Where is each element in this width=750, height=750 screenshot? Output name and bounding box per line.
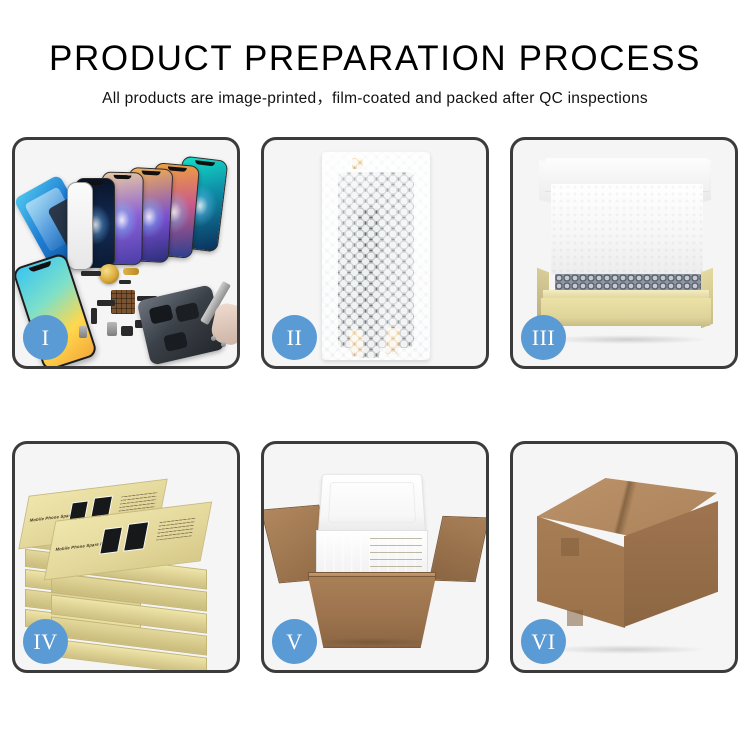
- step-badge-1: I: [23, 315, 68, 360]
- step-card-1: I: [12, 137, 240, 369]
- flex-cable-part: [97, 300, 115, 306]
- speaker-coil-part: [99, 264, 119, 284]
- step-badge-3: III: [521, 315, 566, 360]
- notch: [195, 160, 216, 166]
- drop-shadow: [316, 638, 428, 646]
- step-badge-4: IV: [23, 619, 68, 664]
- notch: [141, 171, 160, 176]
- step-badge-2: II: [272, 315, 317, 360]
- yellow-boxes-stack: [370, 538, 422, 574]
- notch: [29, 261, 52, 273]
- carton-flap-right: [429, 516, 489, 582]
- small-part: [81, 271, 101, 276]
- flex-cable-part: [91, 308, 97, 324]
- step-card-3: III: [510, 137, 738, 369]
- speaker-part: [121, 326, 133, 336]
- foam-box-lid: [318, 474, 426, 535]
- battery-connector-part: [79, 326, 87, 338]
- gold-connector-part: [123, 268, 139, 275]
- screw-part: [211, 336, 216, 341]
- header: PRODUCT PREPARATION PROCESS All products…: [0, 0, 750, 108]
- process-steps-grid: I II: [12, 137, 738, 673]
- page-title: PRODUCT PREPARATION PROCESS: [0, 38, 750, 80]
- camera-module-part: [107, 322, 117, 336]
- tape-patch-upper: [561, 538, 579, 556]
- notch: [113, 175, 131, 179]
- small-part: [119, 280, 131, 284]
- tape-patch-lower: [567, 610, 583, 626]
- box-front-wall: [541, 298, 711, 326]
- page-subtitle: All products are image-printed，film-coat…: [0, 86, 750, 108]
- step-card-2: II: [261, 137, 489, 369]
- step-badge-5: V: [272, 619, 317, 664]
- product-preparation-infographic: PRODUCT PREPARATION PROCESS All products…: [0, 0, 750, 750]
- step-card-4: Mobile Phone Spare Parts Mobile Phone Sp…: [12, 441, 240, 673]
- screw-part: [221, 342, 226, 347]
- drop-shadow: [547, 645, 705, 654]
- white-foam-sheet: [551, 184, 703, 274]
- bubble-wrap-bag: [322, 152, 430, 360]
- step-badge-6: VI: [521, 619, 566, 664]
- plastic-sheen: [322, 152, 430, 360]
- drop-shadow: [547, 335, 707, 344]
- tempered-glass-protector: [67, 182, 93, 270]
- step-card-6: VI: [510, 441, 738, 673]
- step-card-5: V: [261, 441, 489, 673]
